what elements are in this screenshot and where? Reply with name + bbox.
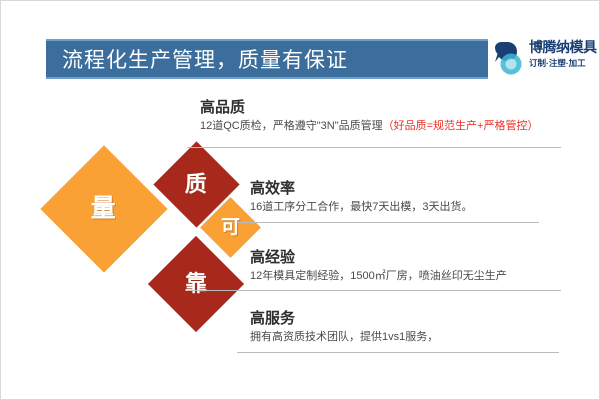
feature-title-quality: 高品质 — [200, 99, 538, 117]
feature-desc-quality-highlight: （好品质=规范生产+严格管控） — [383, 120, 539, 132]
feature-block-efficiency: 高效率 16道工序分工合作，最快7天出模，3天出货。 — [250, 180, 472, 215]
feature-desc-quality: 12道QC质检，严格遵守"3N"品质管理（好品质=规范生产+严格管控） — [200, 119, 538, 134]
feature-block-service: 高服务 拥有高资质技术团队，提供1vs1服务， — [250, 310, 438, 345]
feature-desc-experience: 12年模具定制经验，1500㎡厂房，喷油丝印无尘生产 — [250, 269, 507, 284]
diamond-kao-label: 靠 — [185, 273, 207, 295]
diamond-liang-label: 量 — [91, 196, 116, 221]
feature-block-experience: 高经验 12年模具定制经验，1500㎡厂房，喷油丝印无尘生产 — [250, 249, 507, 284]
logo-company-name: 博腾纳模具 — [529, 39, 595, 55]
feature-title-efficiency: 高效率 — [250, 180, 472, 198]
feature-block-quality: 高品质 12道QC质检，严格遵守"3N"品质管理（好品质=规范生产+严格管控） — [200, 99, 538, 134]
feature-desc-service: 拥有高资质技术团队，提供1vs1服务， — [250, 330, 438, 345]
slide-canvas: 流程化生产管理，质量有保证 博腾纳模具 订制·注塑·加工 量 质 可 靠 高品质… — [0, 0, 600, 400]
divider-rule-1 — [187, 147, 561, 148]
header-band: 流程化生产管理，质量有保证 — [46, 39, 488, 79]
feature-title-service: 高服务 — [250, 310, 438, 328]
company-logo: 博腾纳模具 订制·注塑·加工 — [493, 37, 595, 81]
page-title: 流程化生产管理，质量有保证 — [62, 44, 348, 74]
botengna-droplet-icon — [493, 40, 527, 78]
logo-text-group: 博腾纳模具 订制·注塑·加工 — [529, 39, 595, 69]
divider-rule-4 — [237, 352, 559, 353]
feature-desc-quality-text: 12道QC质检，严格遵守"3N"品质管理 — [200, 120, 383, 132]
diamond-liang: 量 — [40, 145, 167, 272]
diamond-ke-label: 可 — [221, 218, 240, 237]
feature-desc-efficiency: 16道工序分工合作，最快7天出模，3天出货。 — [250, 200, 472, 215]
divider-rule-3 — [187, 290, 561, 291]
diamond-zhi-label: 质 — [185, 173, 207, 195]
feature-title-experience: 高经验 — [250, 249, 507, 267]
divider-rule-2 — [237, 222, 539, 223]
logo-tagline: 订制·注塑·加工 — [529, 57, 595, 69]
